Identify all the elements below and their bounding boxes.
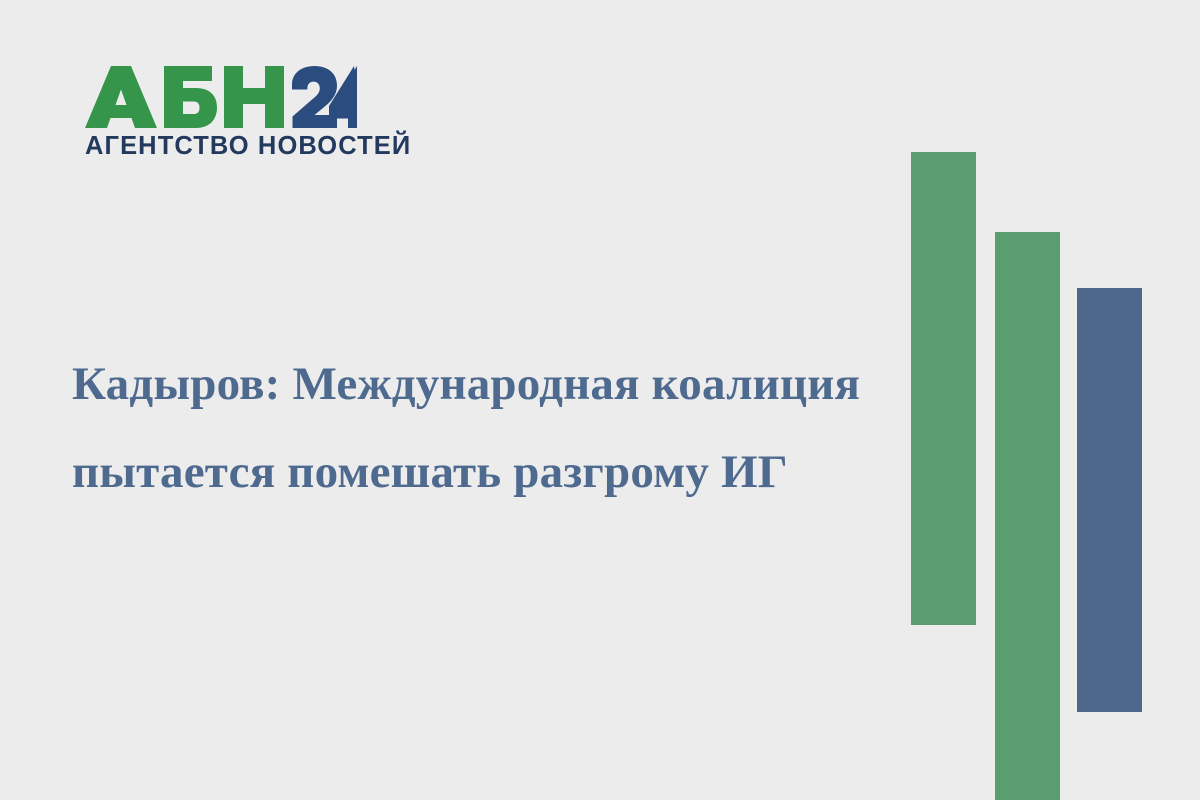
headline: Кадыров: Международная коалиция пытается… — [72, 340, 872, 516]
bar-green-tall — [911, 152, 976, 625]
bar-green-medium — [995, 232, 1060, 800]
logo-tagline: АГЕНТСТВО НОВОСТЕЙ — [85, 134, 365, 160]
bar-blue — [1077, 288, 1142, 712]
logo-wordmark-icon — [85, 66, 357, 128]
news-card: АГЕНТСТВО НОВОСТЕЙ Кадыров: Международна… — [0, 0, 1200, 800]
abn24-logo[interactable]: АГЕНТСТВО НОВОСТЕЙ — [85, 66, 365, 160]
